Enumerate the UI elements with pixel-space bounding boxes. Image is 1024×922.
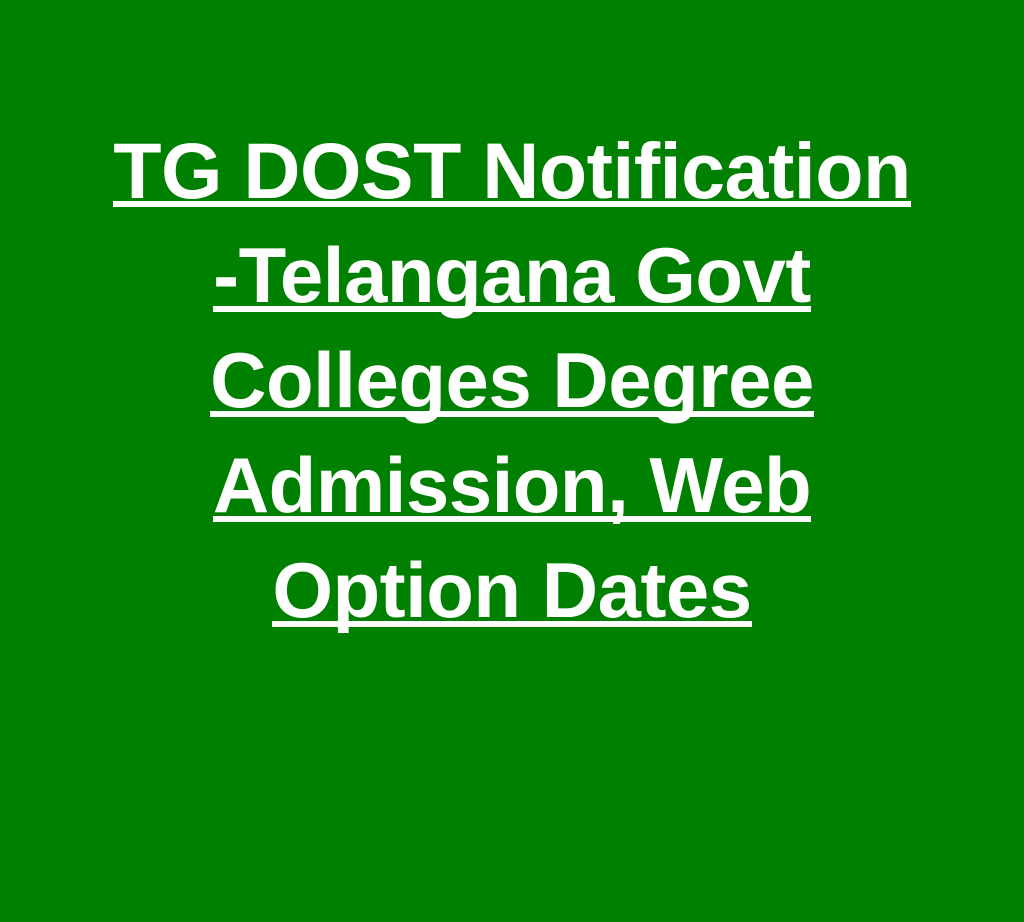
headline-line-1: TG DOST Notification (0, 118, 1024, 223)
headline-line-4: Admission, Web (0, 433, 1024, 538)
headline-line-2-text: -Telangana Govt (213, 223, 811, 328)
headline-line-3: Colleges Degree (0, 328, 1024, 433)
headline-line-4-text: Admission, Web (213, 433, 811, 538)
green-notification-banner: TG DOST Notification -Telangana Govt Col… (0, 0, 1024, 922)
headline-line-3-text: Colleges Degree (210, 328, 814, 433)
headline-block: TG DOST Notification -Telangana Govt Col… (0, 118, 1024, 643)
headline-line-1-text: TG DOST Notification (113, 118, 911, 223)
headline-line-5: Option Dates (0, 538, 1024, 643)
headline-line-5-text: Option Dates (272, 538, 751, 643)
headline-line-2: -Telangana Govt (0, 223, 1024, 328)
